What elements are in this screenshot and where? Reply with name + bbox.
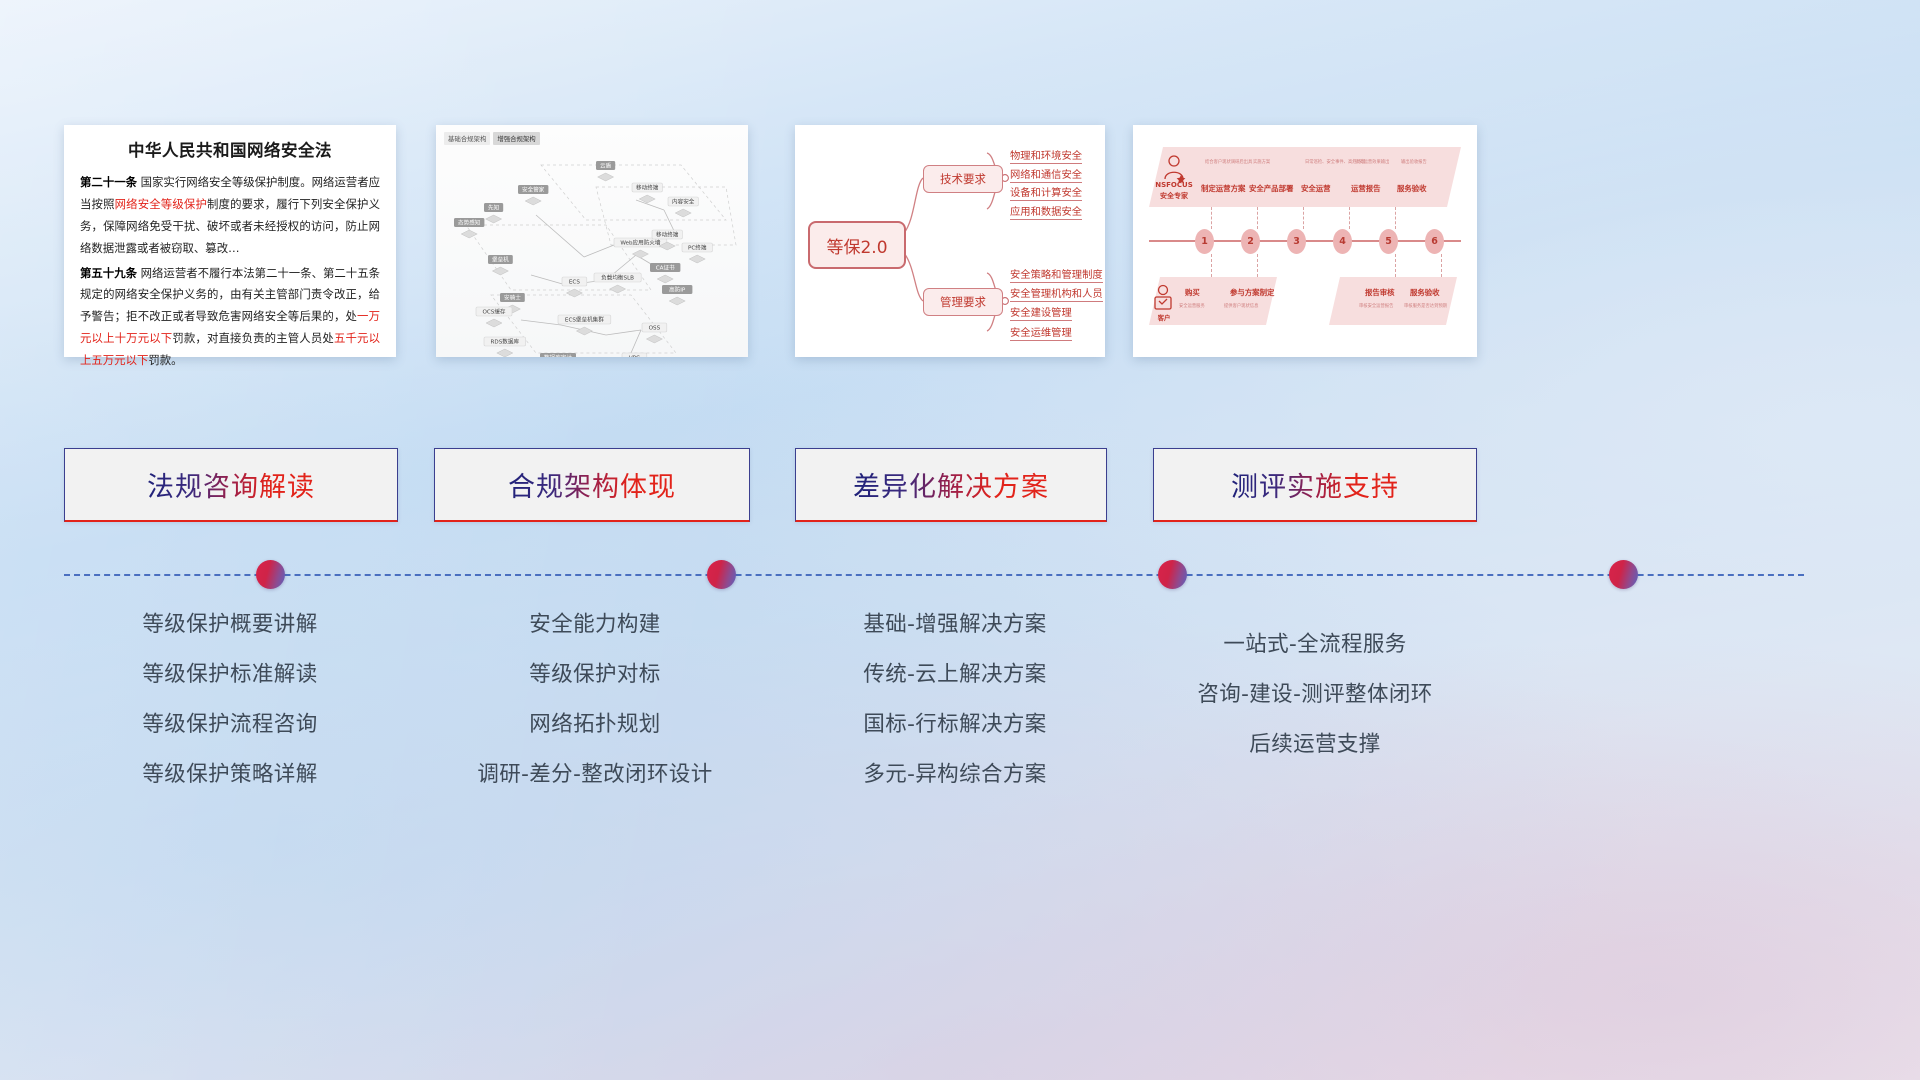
category-buttons-row: 法规咨询解读 合规架构体现 差异化解决方案 测评实施支持 [0,448,1920,522]
button-label: 差异化解决方案 [853,465,1049,504]
timeline-step-3[interactable]: 3 [1287,229,1306,254]
architecture-node-shape [486,319,502,327]
button-assessment-support[interactable]: 测评实施支持 [1153,448,1477,522]
customer-step-sub: 审核服务是否达到预期 [1404,303,1447,309]
law-highlight: 网络安全等级保护 [115,197,207,211]
architecture-node-label: 内容安全 [672,198,695,206]
list-item: 传统-云上解决方案 [765,650,1145,700]
timeline-connector [1395,207,1396,229]
customer-step-title: 报告审核 [1365,287,1395,298]
customer-step-title: 参与方案制定 [1230,287,1274,298]
architecture-node-shape [646,335,662,343]
architecture-node-label: VPC [629,356,640,357]
architecture-node-shape [461,230,477,238]
customer-icon [1151,283,1177,313]
provider-name-cn: 安全专家 [1151,191,1197,201]
architecture-node-shape [486,215,502,223]
customer-step-sub: 安全运营服务 [1179,303,1205,309]
architecture-node-label: RDS数据库 [491,338,520,346]
architecture-node-label: 态势感知 [458,219,481,227]
architecture-node-label: Web应用防火墙 [620,239,661,247]
card-cybersecurity-law[interactable]: 中华人民共和国网络安全法 第二十一条 国家实行网络安全等级保护制度。网络运营者应… [64,125,396,357]
mindmap-branch-management[interactable]: 管理要求 [923,288,1003,316]
timeline-step-2[interactable]: 2 [1241,229,1260,254]
timeline-step-5[interactable]: 5 [1379,229,1398,254]
timeline-step-4[interactable]: 4 [1333,229,1352,254]
button-label: 测评实施支持 [1231,465,1399,504]
provider-step-sub: 针对运营效果输出 [1355,159,1389,165]
architecture-node-shape [610,285,626,293]
list-item: 咨询-建设-测评整体闭环 [1125,670,1505,720]
architecture-node-label: 云盾 [600,163,612,170]
mindmap-leaf[interactable]: 安全运维管理 [1010,324,1072,341]
law-text: 罚款，对直接负责的主管人员处 [172,331,334,345]
mindmap-leaf[interactable]: 安全策略和管理制度 [1010,266,1103,283]
architecture-node-shape [525,197,541,205]
mindmap-leaf[interactable]: 物理和环境安全 [1010,147,1082,164]
architecture-node-label: 高防IP [669,286,686,294]
architecture-diagram: 基础合规架构 增强合规架构 态势感知先知安全管家 [436,125,748,357]
button-label: 合规架构体现 [508,465,676,504]
customer-step-title: 购买 [1185,287,1200,298]
progress-timeline [0,560,1920,590]
architecture-node-shape [576,327,592,335]
list-item: 等级保护策略详解 [40,750,420,800]
provider-step-sub: 结合客户现状调研后出具 [1205,159,1252,165]
architecture-node-label: 先知 [488,204,500,212]
details-column-1: 等级保护概要讲解 等级保护标准解读 等级保护流程咨询 等级保护策略详解 [40,600,420,800]
card-mindmap[interactable]: 等保2.0 技术要求 管理要求 物理和环境安全网络和通信安全设备和计算安全应用和… [795,125,1105,357]
architecture-node-shape [497,349,513,357]
timeline-connector [1257,254,1258,277]
law-text: 罚款。 [148,353,182,367]
customer-step-sub: 提供客户现状信息 [1224,303,1258,309]
architecture-node-label: PC终端 [688,244,707,252]
provider-name-en: NSFOCUS [1151,181,1197,189]
mindmap-root-node[interactable]: 等保2.0 [808,221,906,269]
timeline-step-6[interactable]: 6 [1425,229,1444,254]
law-paragraph-59: 第五十九条 网络运营者不履行本法第二十一条、第二十五条规定的网络安全保护义务的，… [80,263,380,372]
provider-step-sub: 实施方案 [1253,159,1270,165]
details-column-4: 一站式-全流程服务 咨询-建设-测评整体闭环 后续运营支撑 [1125,600,1505,770]
customer-step-sub: 审核安全运营报告 [1359,303,1393,309]
provider-step-title: 制定运营方案 [1201,183,1245,194]
list-item: 一站式-全流程服务 [1125,620,1505,670]
card-compliance-architecture[interactable]: 基础合规架构 增强合规架构 态势感知先知安全管家 [436,125,748,357]
timeline-dashed-line [64,574,1804,576]
mindmap-leaf[interactable]: 应用和数据安全 [1010,203,1082,220]
timeline-connector [1303,207,1304,229]
mindmap-branch-technical[interactable]: 技术要求 [923,165,1003,193]
timeline-dot-3[interactable] [1158,560,1187,589]
architecture-node-shape [675,209,691,217]
architecture-node-label: 负载均衡SLB [601,274,634,282]
provider-step-title: 安全产品部署 [1249,183,1293,194]
list-item: 网络拓扑规划 [405,700,785,750]
architecture-node-label: 堡垒机 [492,256,509,264]
architecture-node-shape [669,297,685,305]
mindmap-leaf[interactable]: 安全建设管理 [1010,304,1072,321]
mindmap-leaf[interactable]: 网络和通信安全 [1010,166,1082,183]
button-differentiated-solution[interactable]: 差异化解决方案 [795,448,1107,522]
provider-step-title: 运营报告 [1351,183,1381,194]
list-item: 等级保护对标 [405,650,785,700]
list-item: 国标-行标解决方案 [765,700,1145,750]
law-title: 中华人民共和国网络安全法 [80,137,380,161]
customer-step-title: 服务验收 [1410,287,1440,298]
button-label: 法规咨询解读 [147,465,315,504]
architecture-node-shape [657,275,673,283]
architecture-node-label: 安全管家 [522,186,545,194]
timeline-step-1[interactable]: 1 [1195,229,1214,254]
architecture-node-shape [492,267,508,275]
architecture-node-label: OCS缓存 [482,308,505,316]
provider-step-title: 安全运营 [1301,183,1331,194]
law-paragraph-21: 第二十一条 国家实行网络安全等级保护制度。网络运营者应当按照网络安全等级保护制度… [80,172,380,260]
timeline-connector [1349,207,1350,229]
law-document: 中华人民共和国网络安全法 第二十一条 国家实行网络安全等级保护制度。网络运营者应… [64,125,396,357]
architecture-node-label: 安骑士 [504,294,521,302]
list-item: 等级保护流程咨询 [40,700,420,750]
mindmap-leaf[interactable]: 安全管理机构和人员 [1010,285,1103,302]
architecture-node-shape [632,250,648,258]
timeline-connector [1211,207,1212,229]
button-regulation-consulting[interactable]: 法规咨询解读 [64,448,398,522]
timeline-dot-2[interactable] [707,560,736,589]
mindmap-diagram: 等保2.0 技术要求 管理要求 物理和环境安全网络和通信安全设备和计算安全应用和… [795,125,1105,357]
law-article-59: 第五十九条 [80,266,137,280]
list-item: 基础-增强解决方案 [765,600,1145,650]
customer-band-right [1329,277,1457,325]
list-item: 等级保护概要讲解 [40,600,420,650]
customer-name: 客户 [1149,313,1179,322]
architecture-node-shape [598,173,614,181]
list-item: 调研-差分-整改闭环设计 [405,750,785,800]
architecture-node-label: ECS堡垒机集群 [565,316,604,324]
architecture-node-shape [689,255,705,263]
architecture-node-label: CA证书 [656,264,675,272]
timeline-connector [1257,207,1258,229]
details-column-3: 基础-增强解决方案 传统-云上解决方案 国标-行标解决方案 多元-异构综合方案 [765,600,1145,800]
list-item: 等级保护标准解读 [40,650,420,700]
timeline-connector [1441,254,1442,277]
timeline-dot-4[interactable] [1609,560,1638,589]
list-item: 多元-异构综合方案 [765,750,1145,800]
provider-step-title: 服务验收 [1397,183,1427,194]
service-details-row: 等级保护概要讲解 等级保护标准解读 等级保护流程咨询 等级保护策略详解 安全能力… [0,600,1920,840]
architecture-node-label: OSS [649,326,661,332]
button-compliance-architecture[interactable]: 合规架构体现 [434,448,750,522]
architecture-node-label: 移动终端 [656,231,679,239]
list-item: 后续运营支撑 [1125,720,1505,770]
card-service-timeline[interactable]: NSFOCUS 安全专家 客户 123456 结合客户现状调研后出具制定运营方案… [1133,125,1477,357]
details-column-2: 安全能力构建 等级保护对标 网络拓扑规划 调研-差分-整改闭环设计 [405,600,785,800]
provider-step-sub: 输出验收报告 [1401,159,1427,165]
list-item: 安全能力构建 [405,600,785,650]
architecture-svg: 态势感知先知安全管家堡垒机安骑士OCS缓存RDS数据库数据库审计ECS负载均衡S… [436,125,748,357]
preview-cards-row: 中华人民共和国网络安全法 第二十一条 国家实行网络安全等级保护制度。网络运营者应… [0,125,1920,360]
architecture-node-label: 移动终端 [636,184,659,192]
timeline-dot-1[interactable] [256,560,285,589]
timeline-connector [1395,254,1396,277]
law-article-21: 第二十一条 [80,175,137,189]
timeline-connector [1211,254,1212,277]
mindmap-leaf[interactable]: 设备和计算安全 [1010,184,1082,201]
service-timeline-diagram: NSFOCUS 安全专家 客户 123456 结合客户现状调研后出具制定运营方案… [1133,125,1477,357]
architecture-node-label: ECS [569,280,580,286]
